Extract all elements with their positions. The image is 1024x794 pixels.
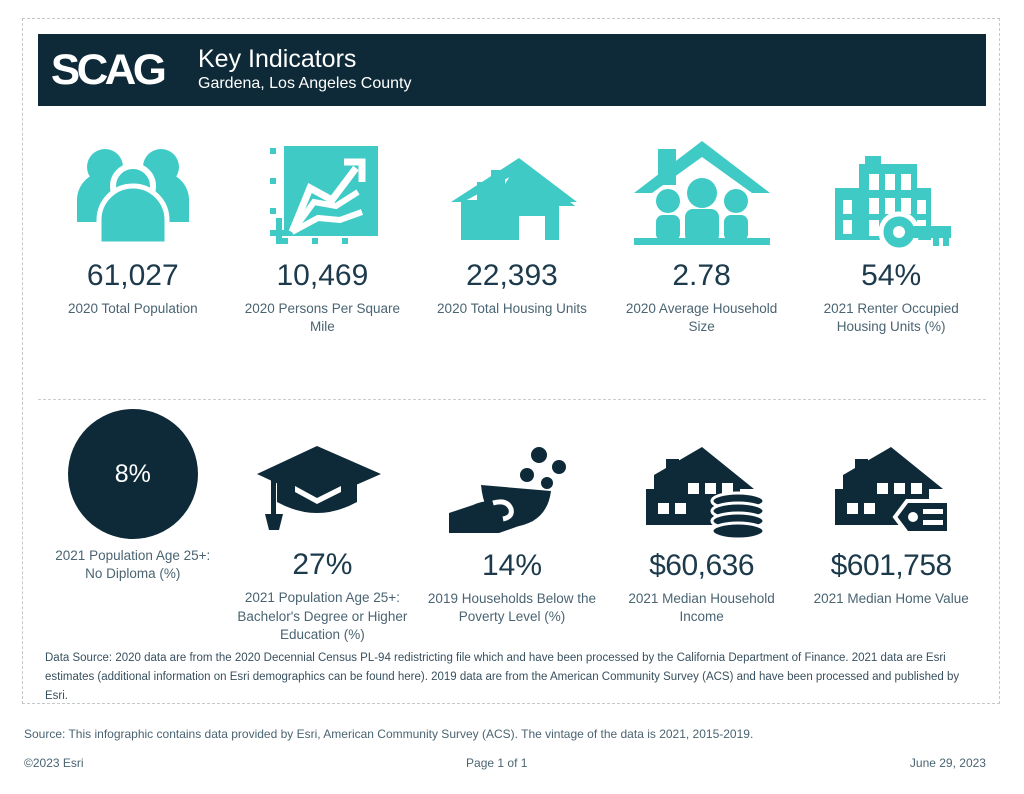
page-title: Key Indicators: [198, 45, 411, 74]
pie-chart-value: 8%: [68, 409, 198, 539]
indicator-no-diploma: 8% 2021 Population Age 25+: No Diploma (…: [38, 409, 228, 644]
indicator-value: 10,469: [277, 259, 369, 292]
indicator-label: 2020 Persons Per Square Mile: [235, 300, 410, 336]
indicator-persons-per-square-mile: 10,469 2020 Persons Per Square Mile: [228, 129, 418, 364]
indicator-label: 2021 Population Age 25+: Bachelor's Degr…: [235, 589, 410, 644]
indicator-value: 61,027: [87, 259, 179, 292]
indicator-label: 2020 Total Population: [68, 300, 198, 318]
indicator-row-2: 8% 2021 Population Age 25+: No Diploma (…: [38, 409, 986, 644]
indicator-median-household-income: $60,636 2021 Median Household Income: [607, 409, 797, 644]
indicator-label: 2020 Average Household Size: [614, 300, 789, 336]
infographic-page: SCAG Key Indicators Gardena, Los Angeles…: [0, 0, 1024, 794]
page-subtitle: Gardena, Los Angeles County: [198, 74, 411, 95]
footer-copyright: ©2023 Esri: [24, 756, 84, 770]
header-titles: Key Indicators Gardena, Los Angeles Coun…: [188, 45, 411, 96]
indicator-label: 2021 Median Home Value: [814, 590, 969, 608]
footer: ©2023 Esri Page 1 of 1 June 29, 2023: [24, 756, 986, 770]
indicator-label: 2020 Total Housing Units: [437, 300, 587, 318]
graduation-cap-icon: [257, 409, 387, 538]
apartment-key-icon: [829, 129, 954, 249]
indicator-average-household-size: 2.78 2020 Average Household Size: [607, 129, 797, 364]
indicator-label: 2021 Population Age 25+: No Diploma (%): [45, 547, 220, 583]
indicator-value: $601,758: [831, 549, 952, 582]
house-coins-icon: [632, 409, 772, 539]
house-family-icon: [632, 129, 772, 249]
row-divider: [38, 399, 986, 400]
indicator-row-1: 61,027 2020 Total Population: [38, 129, 986, 364]
indicator-value: $60,636: [649, 549, 754, 582]
indicator-label: 2021 Renter Occupied Housing Units (%): [804, 300, 979, 336]
group-people-icon: [73, 129, 193, 249]
source-line: Source: This infographic contains data p…: [24, 727, 984, 741]
scag-logo: SCAG: [38, 49, 188, 92]
indicator-value: 2.78: [672, 259, 730, 292]
infographic-card: SCAG Key Indicators Gardena, Los Angeles…: [22, 18, 1000, 704]
house-icon: [447, 129, 577, 249]
indicator-value: 54%: [861, 259, 921, 292]
footer-page-number: Page 1 of 1: [466, 756, 527, 770]
house-pricetag-icon: [821, 409, 961, 539]
footer-date: June 29, 2023: [910, 756, 986, 770]
indicator-total-housing-units: 22,393 2020 Total Housing Units: [417, 129, 607, 364]
growth-chart-icon: [262, 129, 382, 249]
indicator-value: 14%: [482, 549, 542, 582]
indicator-median-home-value: $601,758 2021 Median Home Value: [796, 409, 986, 644]
indicator-label: 2021 Median Household Income: [614, 590, 789, 626]
indicator-value: 27%: [292, 548, 352, 581]
indicator-bachelors-degree: 27% 2021 Population Age 25+: Bachelor's …: [228, 409, 418, 644]
indicator-total-population: 61,027 2020 Total Population: [38, 129, 228, 364]
indicator-renter-occupied: 54% 2021 Renter Occupied Housing Units (…: [796, 129, 986, 364]
pie-chart-icon: 8%: [68, 409, 198, 539]
indicator-label: 2019 Households Below the Poverty Level …: [424, 590, 599, 626]
hand-bowl-icon: [447, 409, 577, 539]
indicator-poverty-level: 14% 2019 Households Below the Poverty Le…: [417, 409, 607, 644]
scag-logo-text: SCAG: [51, 49, 163, 92]
header-bar: SCAG Key Indicators Gardena, Los Angeles…: [38, 34, 986, 106]
indicator-value: 22,393: [466, 259, 558, 292]
data-source-note: Data Source: 2020 data are from the 2020…: [45, 649, 979, 706]
